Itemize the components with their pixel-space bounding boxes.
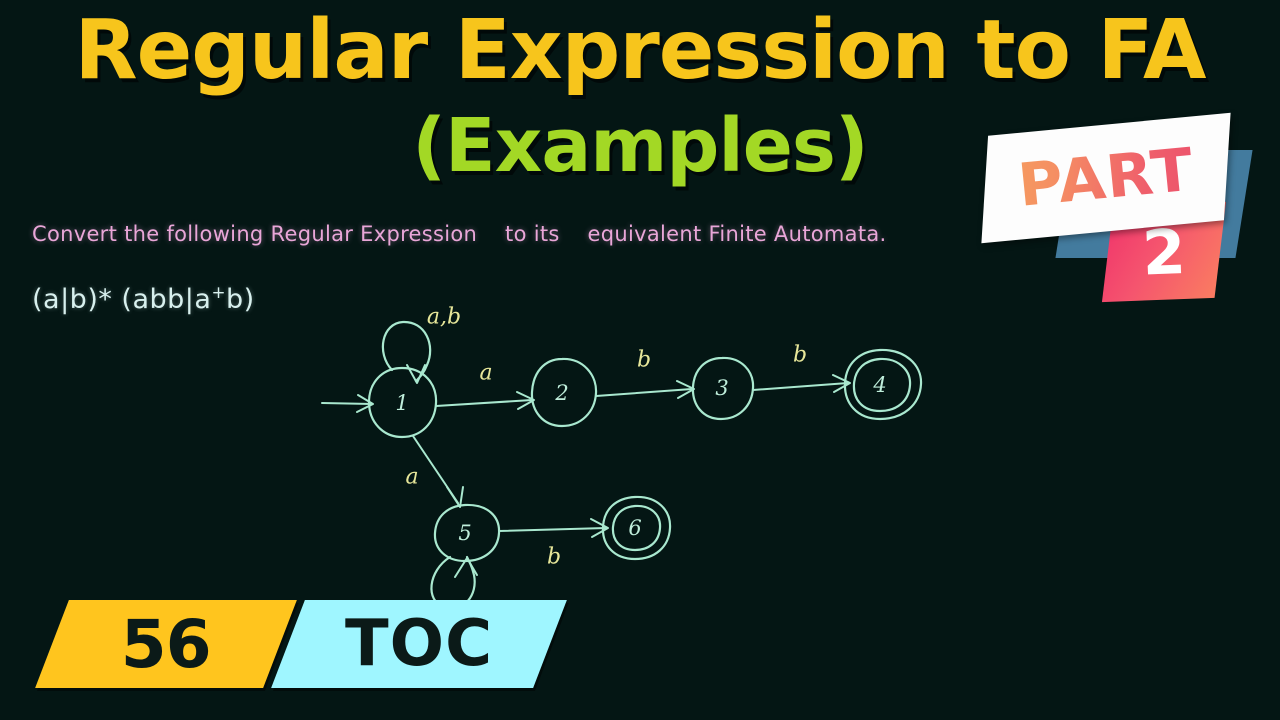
page-title: Regular Expression to FA xyxy=(0,8,1280,94)
finite-automaton-diagram: 1 a,b a 2 b xyxy=(300,295,980,625)
state-3-label: 3 xyxy=(715,376,728,400)
transition-1-2 xyxy=(436,392,534,409)
transition-5-6 xyxy=(499,519,608,537)
question-text: Convert the following Regular Expression… xyxy=(32,222,887,246)
course-badge: TOC xyxy=(271,600,567,688)
state-1: 1 xyxy=(369,368,436,437)
transition-5-6-label: b xyxy=(547,545,561,570)
transition-2-3 xyxy=(596,381,694,398)
state-4-accepting: 4 xyxy=(845,350,921,419)
transition-1-2-label: a xyxy=(479,361,492,386)
start-arrow xyxy=(322,395,373,412)
course-label: TOC xyxy=(345,607,493,681)
state-5-label: 5 xyxy=(458,521,471,545)
state-4-label: 4 xyxy=(872,373,886,397)
state-2: 2 xyxy=(532,359,596,426)
regex-superscript-plus: + xyxy=(211,282,226,302)
state-6-accepting: 6 xyxy=(603,497,670,559)
transition-1-5-label: a xyxy=(405,465,418,490)
part-badge: 2 PART xyxy=(980,118,1270,308)
video-frame: Regular Expression to FA (Examples) Conv… xyxy=(0,0,1280,720)
episode-number-label: 56 xyxy=(121,606,211,683)
transition-3-4 xyxy=(753,375,850,392)
state-5: 5 xyxy=(435,505,499,561)
regex-suffix: b) xyxy=(226,284,255,315)
transition-1-1-label: a,b xyxy=(427,305,461,330)
state-3: 3 xyxy=(693,358,753,419)
state-6-label: 6 xyxy=(628,516,641,540)
transition-2-3-label: b xyxy=(637,348,651,373)
transition-1-5 xyxy=(413,436,463,507)
state-2-label: 2 xyxy=(554,381,568,405)
regular-expression: (a|b)* (abb|a+b) xyxy=(32,282,255,315)
regex-prefix: (a|b)* (abb|a xyxy=(32,284,211,315)
transition-3-4-label: b xyxy=(793,343,807,368)
transition-1-1-self-loop xyxy=(383,322,430,383)
automaton-svg: 1 a,b a 2 b xyxy=(300,295,980,625)
episode-number-badge: 56 xyxy=(35,600,297,688)
state-1-label: 1 xyxy=(395,391,408,415)
